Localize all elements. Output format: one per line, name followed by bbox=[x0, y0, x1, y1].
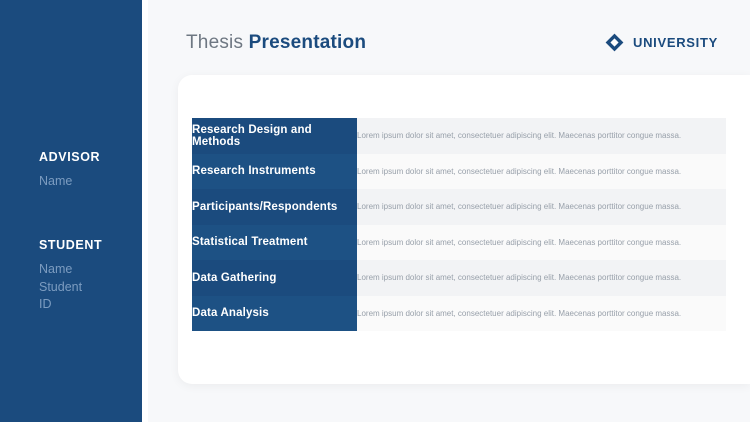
row-text: Lorem ipsum dolor sit amet, consectetuer… bbox=[357, 154, 726, 190]
page-title: Thesis Presentation bbox=[186, 32, 366, 54]
row-text: Lorem ipsum dolor sit amet, consectetuer… bbox=[357, 296, 726, 332]
sidebar bbox=[0, 0, 142, 422]
table-row: Research Instruments Lorem ipsum dolor s… bbox=[192, 154, 726, 190]
row-text: Lorem ipsum dolor sit amet, consectetuer… bbox=[357, 225, 726, 261]
table-row: Statistical Treatment Lorem ipsum dolor … bbox=[192, 225, 726, 261]
methodology-table: Research Design and Methods Lorem ipsum … bbox=[192, 118, 726, 331]
advisor-name: Name bbox=[39, 173, 100, 191]
table-row: Data Gathering Lorem ipsum dolor sit ame… bbox=[192, 260, 726, 296]
table-row: Research Design and Methods Lorem ipsum … bbox=[192, 118, 726, 154]
row-label: Statistical Treatment bbox=[192, 225, 357, 261]
row-text: Lorem ipsum dolor sit amet, consectetuer… bbox=[357, 260, 726, 296]
brand: UNIVERSITY bbox=[605, 33, 718, 52]
student-name: Name Student ID bbox=[39, 261, 102, 314]
row-text: Lorem ipsum dolor sit amet, consectetuer… bbox=[357, 189, 726, 225]
student-block: STUDENT Name Student ID bbox=[39, 238, 102, 314]
row-text: Lorem ipsum dolor sit amet, consectetuer… bbox=[357, 118, 726, 154]
row-label: Research Design and Methods bbox=[192, 118, 357, 154]
diamond-logo-icon bbox=[605, 33, 624, 52]
row-label: Participants/Respondents bbox=[192, 189, 357, 225]
table-row: Participants/Respondents Lorem ipsum dol… bbox=[192, 189, 726, 225]
page-title-light: Thesis bbox=[186, 32, 243, 53]
slide: ADVISOR Name STUDENT Name Student ID The… bbox=[0, 0, 750, 422]
row-label: Data Gathering bbox=[192, 260, 357, 296]
brand-name: UNIVERSITY bbox=[633, 35, 718, 50]
student-heading: STUDENT bbox=[39, 238, 102, 252]
advisor-block: ADVISOR Name bbox=[39, 150, 100, 191]
page-title-strong: Presentation bbox=[249, 32, 367, 53]
row-label: Data Analysis bbox=[192, 296, 357, 332]
table-row: Data Analysis Lorem ipsum dolor sit amet… bbox=[192, 296, 726, 332]
advisor-heading: ADVISOR bbox=[39, 150, 100, 164]
sidebar-divider bbox=[142, 0, 148, 422]
row-label: Research Instruments bbox=[192, 154, 357, 190]
